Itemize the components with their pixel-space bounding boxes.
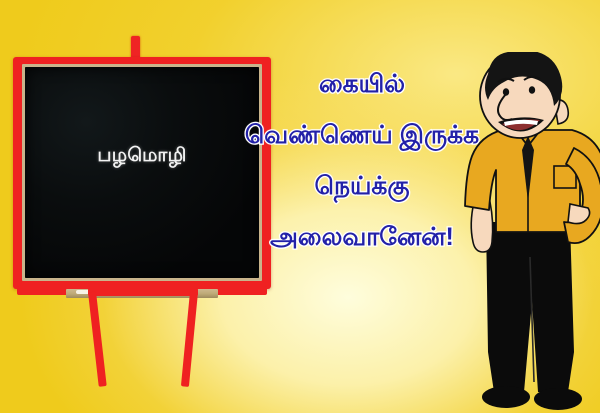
man-shoes <box>482 386 582 410</box>
proverb-illustration: பழமொழி கையில் வெண்ணெய் இருக்க நெய்க்கு அ… <box>0 0 600 413</box>
easel-leg-right <box>181 292 198 387</box>
man-trousers <box>486 222 574 392</box>
easel-crossbar <box>88 288 198 296</box>
cartoon-man <box>462 52 600 413</box>
easel-leg-left <box>88 292 107 387</box>
man-head <box>480 52 568 138</box>
